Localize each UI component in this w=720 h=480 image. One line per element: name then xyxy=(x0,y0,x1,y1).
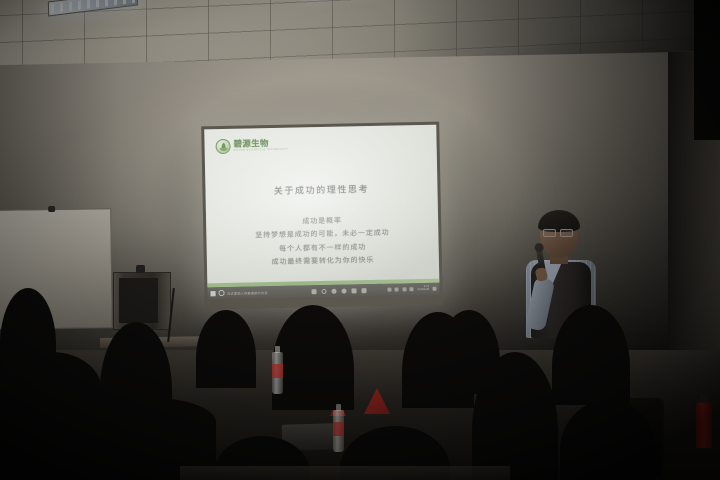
presentation-slide: 碧源生物 BIYUAN BIOLOGICAL TECHNOLOGY 关于成功的理… xyxy=(204,125,439,288)
conference-room-scene: 碧源生物 BIYUAN BIOLOGICAL TECHNOLOGY 关于成功的理… xyxy=(0,0,720,480)
network-icon[interactable] xyxy=(395,287,399,291)
projection-screen: 碧源生物 BIYUAN BIOLOGICAL TECHNOLOGY 关于成功的理… xyxy=(201,122,443,310)
search-icon[interactable] xyxy=(218,290,224,296)
system-tray[interactable]: 9:41 2018/11/8 xyxy=(387,286,436,292)
bottle-label xyxy=(272,364,283,378)
fire-extinguisher xyxy=(696,402,712,448)
crt-monitor xyxy=(113,272,171,330)
logo-text: 碧源生物 BIYUAN BIOLOGICAL TECHNOLOGY xyxy=(233,139,288,152)
taskbar-left[interactable]: 在这里输入你要搜索的内容 xyxy=(210,289,267,296)
notification-icon[interactable] xyxy=(432,287,436,291)
glasses-icon xyxy=(543,229,573,235)
right-dark-corner xyxy=(694,0,720,140)
start-button-icon[interactable] xyxy=(210,291,215,296)
table-edge xyxy=(180,466,510,480)
bottle-label xyxy=(333,422,344,436)
clock-date: 2018/11/8 xyxy=(417,289,429,292)
water-bottle xyxy=(272,352,283,394)
store-icon[interactable] xyxy=(352,288,357,293)
whiteboard-clip xyxy=(48,206,55,212)
logo-name-en: BIYUAN BIOLOGICAL TECHNOLOGY xyxy=(234,149,289,153)
cortana-icon[interactable] xyxy=(322,288,327,293)
task-view-icon[interactable] xyxy=(312,289,317,294)
slide-title: 关于成功的理性思考 xyxy=(205,181,437,199)
explorer-icon[interactable] xyxy=(342,288,347,293)
slide-body: 成功是概率 坚持梦想是成功的可能，未必一定成功 每个人都有不一样的成功 成功最终… xyxy=(206,213,439,271)
volume-icon[interactable] xyxy=(402,287,406,291)
battery-icon[interactable] xyxy=(410,287,414,291)
mail-icon[interactable] xyxy=(362,288,367,293)
search-input[interactable]: 在这里输入你要搜索的内容 xyxy=(227,290,268,296)
edge-icon[interactable] xyxy=(332,288,337,293)
camera-icon xyxy=(136,265,145,273)
water-bottle xyxy=(333,410,344,452)
leaf-circle-icon xyxy=(215,139,230,154)
taskbar-pinned-apps[interactable] xyxy=(312,288,367,294)
taskbar-clock[interactable]: 9:41 2018/11/8 xyxy=(417,286,429,292)
crt-screen xyxy=(119,278,158,323)
company-logo: 碧源生物 BIYUAN BIOLOGICAL TECHNOLOGY xyxy=(215,138,288,154)
chevron-up-icon[interactable] xyxy=(387,288,391,292)
screen-bezel: 碧源生物 BIYUAN BIOLOGICAL TECHNOLOGY 关于成功的理… xyxy=(201,122,443,310)
